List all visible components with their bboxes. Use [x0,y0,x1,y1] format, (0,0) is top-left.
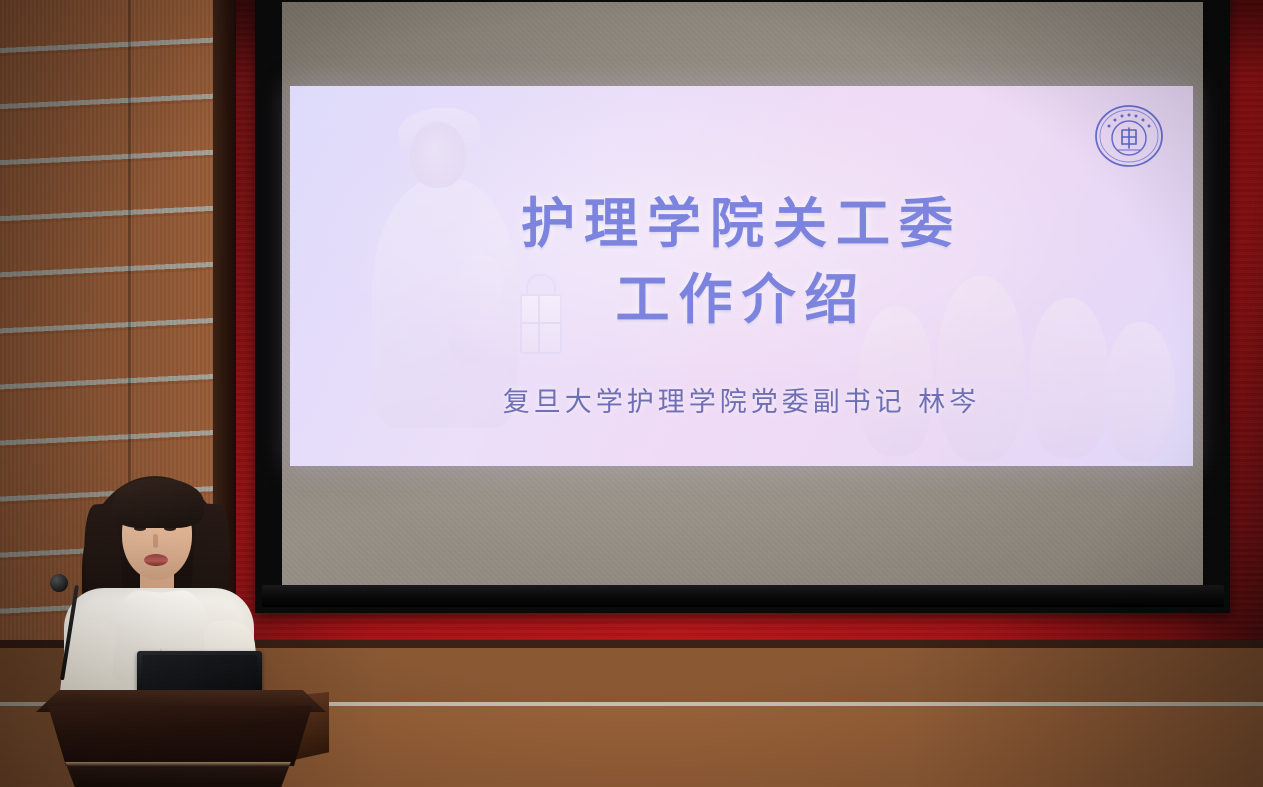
presentation-slide[interactable]: 护理学院关工委 工作介绍 复旦大学护理学院党委副书记 林岑 [290,86,1193,466]
presenter-mouth [144,554,168,566]
slide-title-line-1: 护理学院关工委 [521,192,962,255]
university-seal-logo [1093,100,1165,172]
slide-title: 护理学院关工委 工作介绍 [290,190,1193,334]
podium-front-panel [30,706,330,766]
projection-screen-bottom-bar [262,585,1224,607]
microphone-head-icon [50,574,68,592]
slide-title-line-2: 工作介绍 [290,266,1193,334]
presenter-hair-front [112,478,204,528]
podium-base [58,762,298,787]
slide-subtitle: 复旦大学护理学院党委副书记 林岑 [290,380,1193,419]
presenter-nose [153,534,158,548]
screenshot-root: 护理学院关工委 工作介绍 复旦大学护理学院党委副书记 林岑 [0,0,1263,787]
laptop-on-podium[interactable] [137,651,262,695]
wall-seam [128,0,131,500]
